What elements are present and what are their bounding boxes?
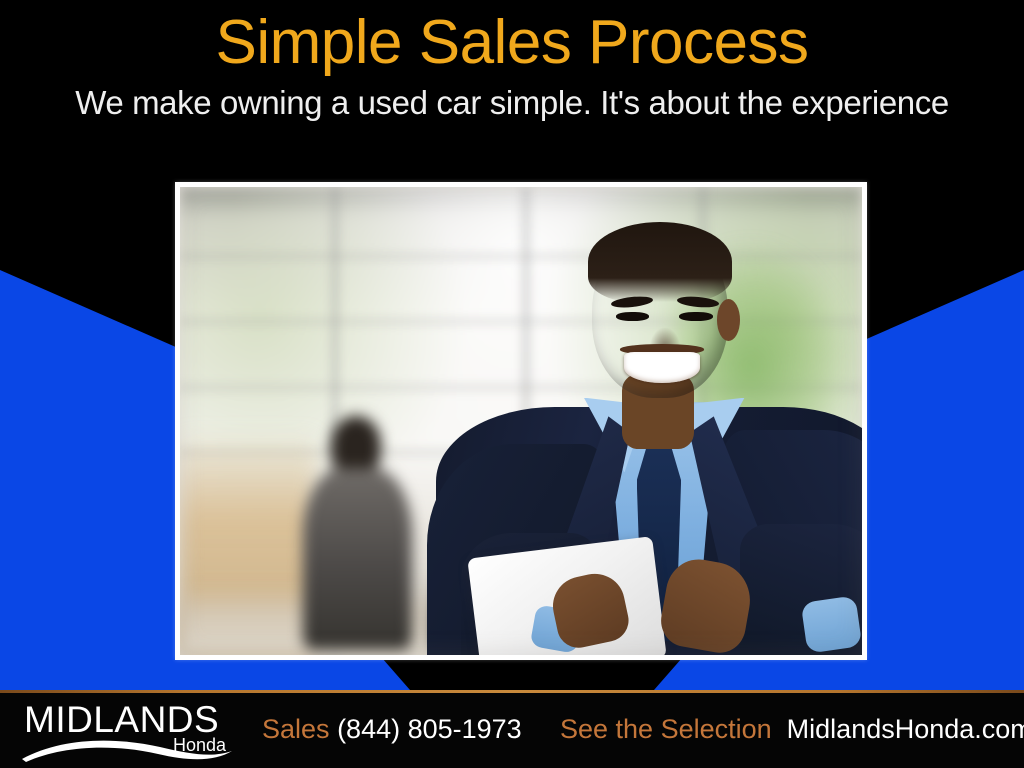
blue-band-notch [382,658,682,690]
background-person [303,416,412,650]
website-url[interactable]: MidlandsHonda.com [787,714,1024,744]
logo-swoosh-icon [20,735,234,763]
photo-frame [175,182,867,660]
shirt-cuff [800,595,862,654]
logo-wordmark: MIDLANDS [24,699,219,740]
smile-teeth [624,352,700,383]
slide-canvas: Simple Sales Process We make owning a us… [0,0,1024,768]
midlands-honda-logo[interactable]: MIDLANDS Honda [24,699,234,763]
header: Simple Sales Process We make owning a us… [0,0,1024,140]
sales-phone-group[interactable]: Sales (844) 805-1973 [262,712,522,746]
ear [717,299,740,341]
sales-phone-number[interactable]: (844) 805-1973 [337,714,522,744]
eye [679,312,713,321]
page-title: Simple Sales Process [0,6,1024,80]
selection-website-group[interactable]: See the Selection MidlandsHonda.com [560,712,1024,746]
footer-divider [0,690,1024,693]
salesman-figure [453,187,862,655]
footer-bar: MIDLANDS Honda Sales (844) 805-1973 See … [0,690,1024,768]
showroom-photo [180,187,862,655]
hair [588,222,732,302]
sales-label: Sales [262,714,330,744]
see-selection-label: See the Selection [560,714,772,744]
page-subtitle: We make owning a used car simple. It's a… [0,82,1024,124]
